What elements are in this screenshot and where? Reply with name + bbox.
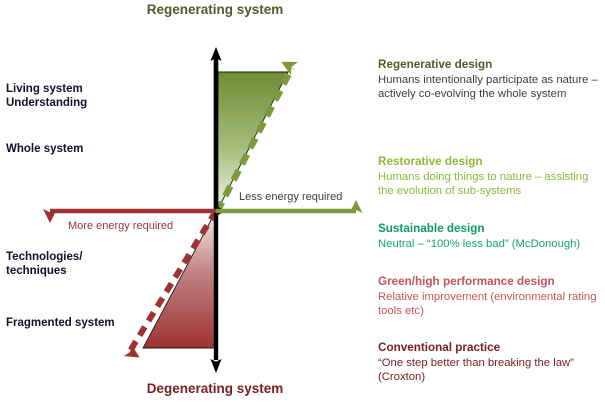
more-energy-required-label: More energy required [68,220,173,233]
top-axis-title: Regenerating system [0,2,430,18]
scale-label-fragmented-system: Fragmented system [6,317,115,331]
legend-title: Conventional practice [378,341,605,356]
legend-body: “One step better than breaking the law” … [378,356,605,384]
legend-title: Restorative design [378,155,605,170]
legend-body: Relative improvement (environmental rati… [378,290,605,318]
legend-block-restorative-design: Restorative design Humans doing things t… [378,155,605,198]
legend-title: Regenerative design [378,58,605,73]
scale-label-living-system: Living system Understanding [6,83,87,110]
regenerative-design-trajectory-diagram: Regenerating system Degenerating system … [0,0,605,404]
legend-body: Humans intentionally participate as natu… [378,73,605,101]
legend-block-green-high-performance-design: Green/high performance design Relative i… [378,275,605,318]
less-energy-required-label: Less energy required [239,191,342,204]
legend-block-sustainable-design: Sustainable design Neutral – “100% less … [378,222,605,251]
legend-title: Sustainable design [378,222,605,237]
bottom-axis-title: Degenerating system [30,381,400,397]
legend-block-conventional-practice: Conventional practice “One step better t… [378,341,605,384]
legend-block-regenerative-design: Regenerative design Humans intentionally… [378,58,605,101]
scale-label-whole-system: Whole system [6,143,83,157]
legend-body: Neutral – “100% less bad” (McDonough) [378,237,605,251]
legend-body: Humans doing things to nature – assistin… [378,170,605,198]
scale-label-technologies-techniques: Technologies/ techniques [6,251,82,278]
legend-title: Green/high performance design [378,275,605,290]
